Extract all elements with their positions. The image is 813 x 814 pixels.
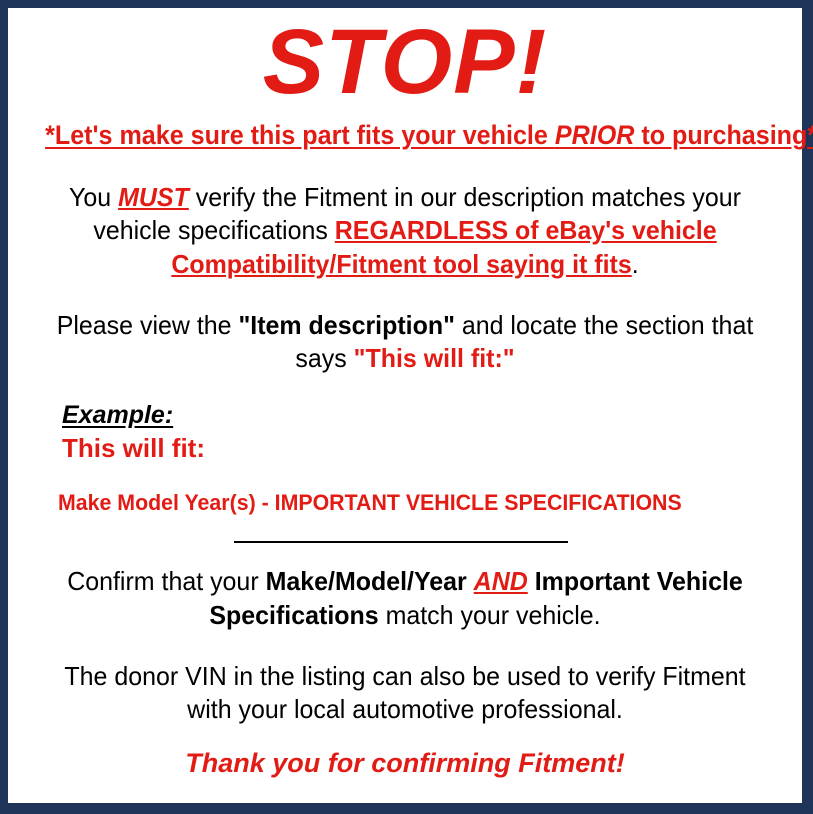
item-description-paragraph: Please view the "Item description" and l…	[33, 281, 776, 376]
item-desc-lead: Please view the	[57, 310, 239, 340]
confirm-paragraph: Confirm that your Make/Model/Year AND Im…	[33, 543, 776, 632]
and-emphasis: AND	[474, 566, 528, 596]
fitment-notice-card: STOP! *Let's make sure this part fits yo…	[0, 0, 813, 814]
must-para-period: .	[632, 249, 639, 279]
subtitle-prefix-text: *Let's make sure this part fits your veh…	[45, 120, 555, 150]
example-this-will-fit: This will fit:	[62, 434, 792, 464]
must-verify-paragraph: You MUST verify the Fitment in our descr…	[33, 151, 776, 281]
thank-you-line: Thank you for confirming Fitment!	[18, 748, 792, 779]
example-label-row: Example:	[62, 401, 792, 430]
subtitle-prior-emphasis: PRIOR	[555, 120, 635, 150]
confirm-tail: match your vehicle.	[379, 600, 601, 630]
this-will-fit-label: "This will fit:"	[354, 343, 515, 373]
example-specification-line: Make Model Year(s) - IMPORTANT VEHICLE S…	[58, 490, 770, 515]
subtitle-suffix-text: to purchasing*	[634, 120, 813, 150]
confirm-space-1	[467, 566, 474, 596]
stop-heading: STOP!	[18, 8, 792, 108]
donor-vin-paragraph: The donor VIN in the listing can also be…	[33, 632, 776, 727]
notice-content-area: STOP! *Let's make sure this part fits yo…	[8, 8, 802, 803]
confirm-lead: Confirm that your	[67, 566, 265, 596]
item-description-label: "Item description"	[238, 310, 454, 340]
make-model-year-emphasis: Make/Model/Year	[266, 566, 467, 596]
must-para-lead: You	[69, 182, 118, 212]
example-block: Example: This will fit: Make Model Year(…	[18, 375, 792, 515]
example-label: Example:	[62, 401, 173, 430]
divider-container	[18, 515, 792, 543]
must-emphasis: MUST	[118, 182, 189, 212]
fitment-subtitle: *Let's make sure this part fits your veh…	[45, 120, 765, 151]
